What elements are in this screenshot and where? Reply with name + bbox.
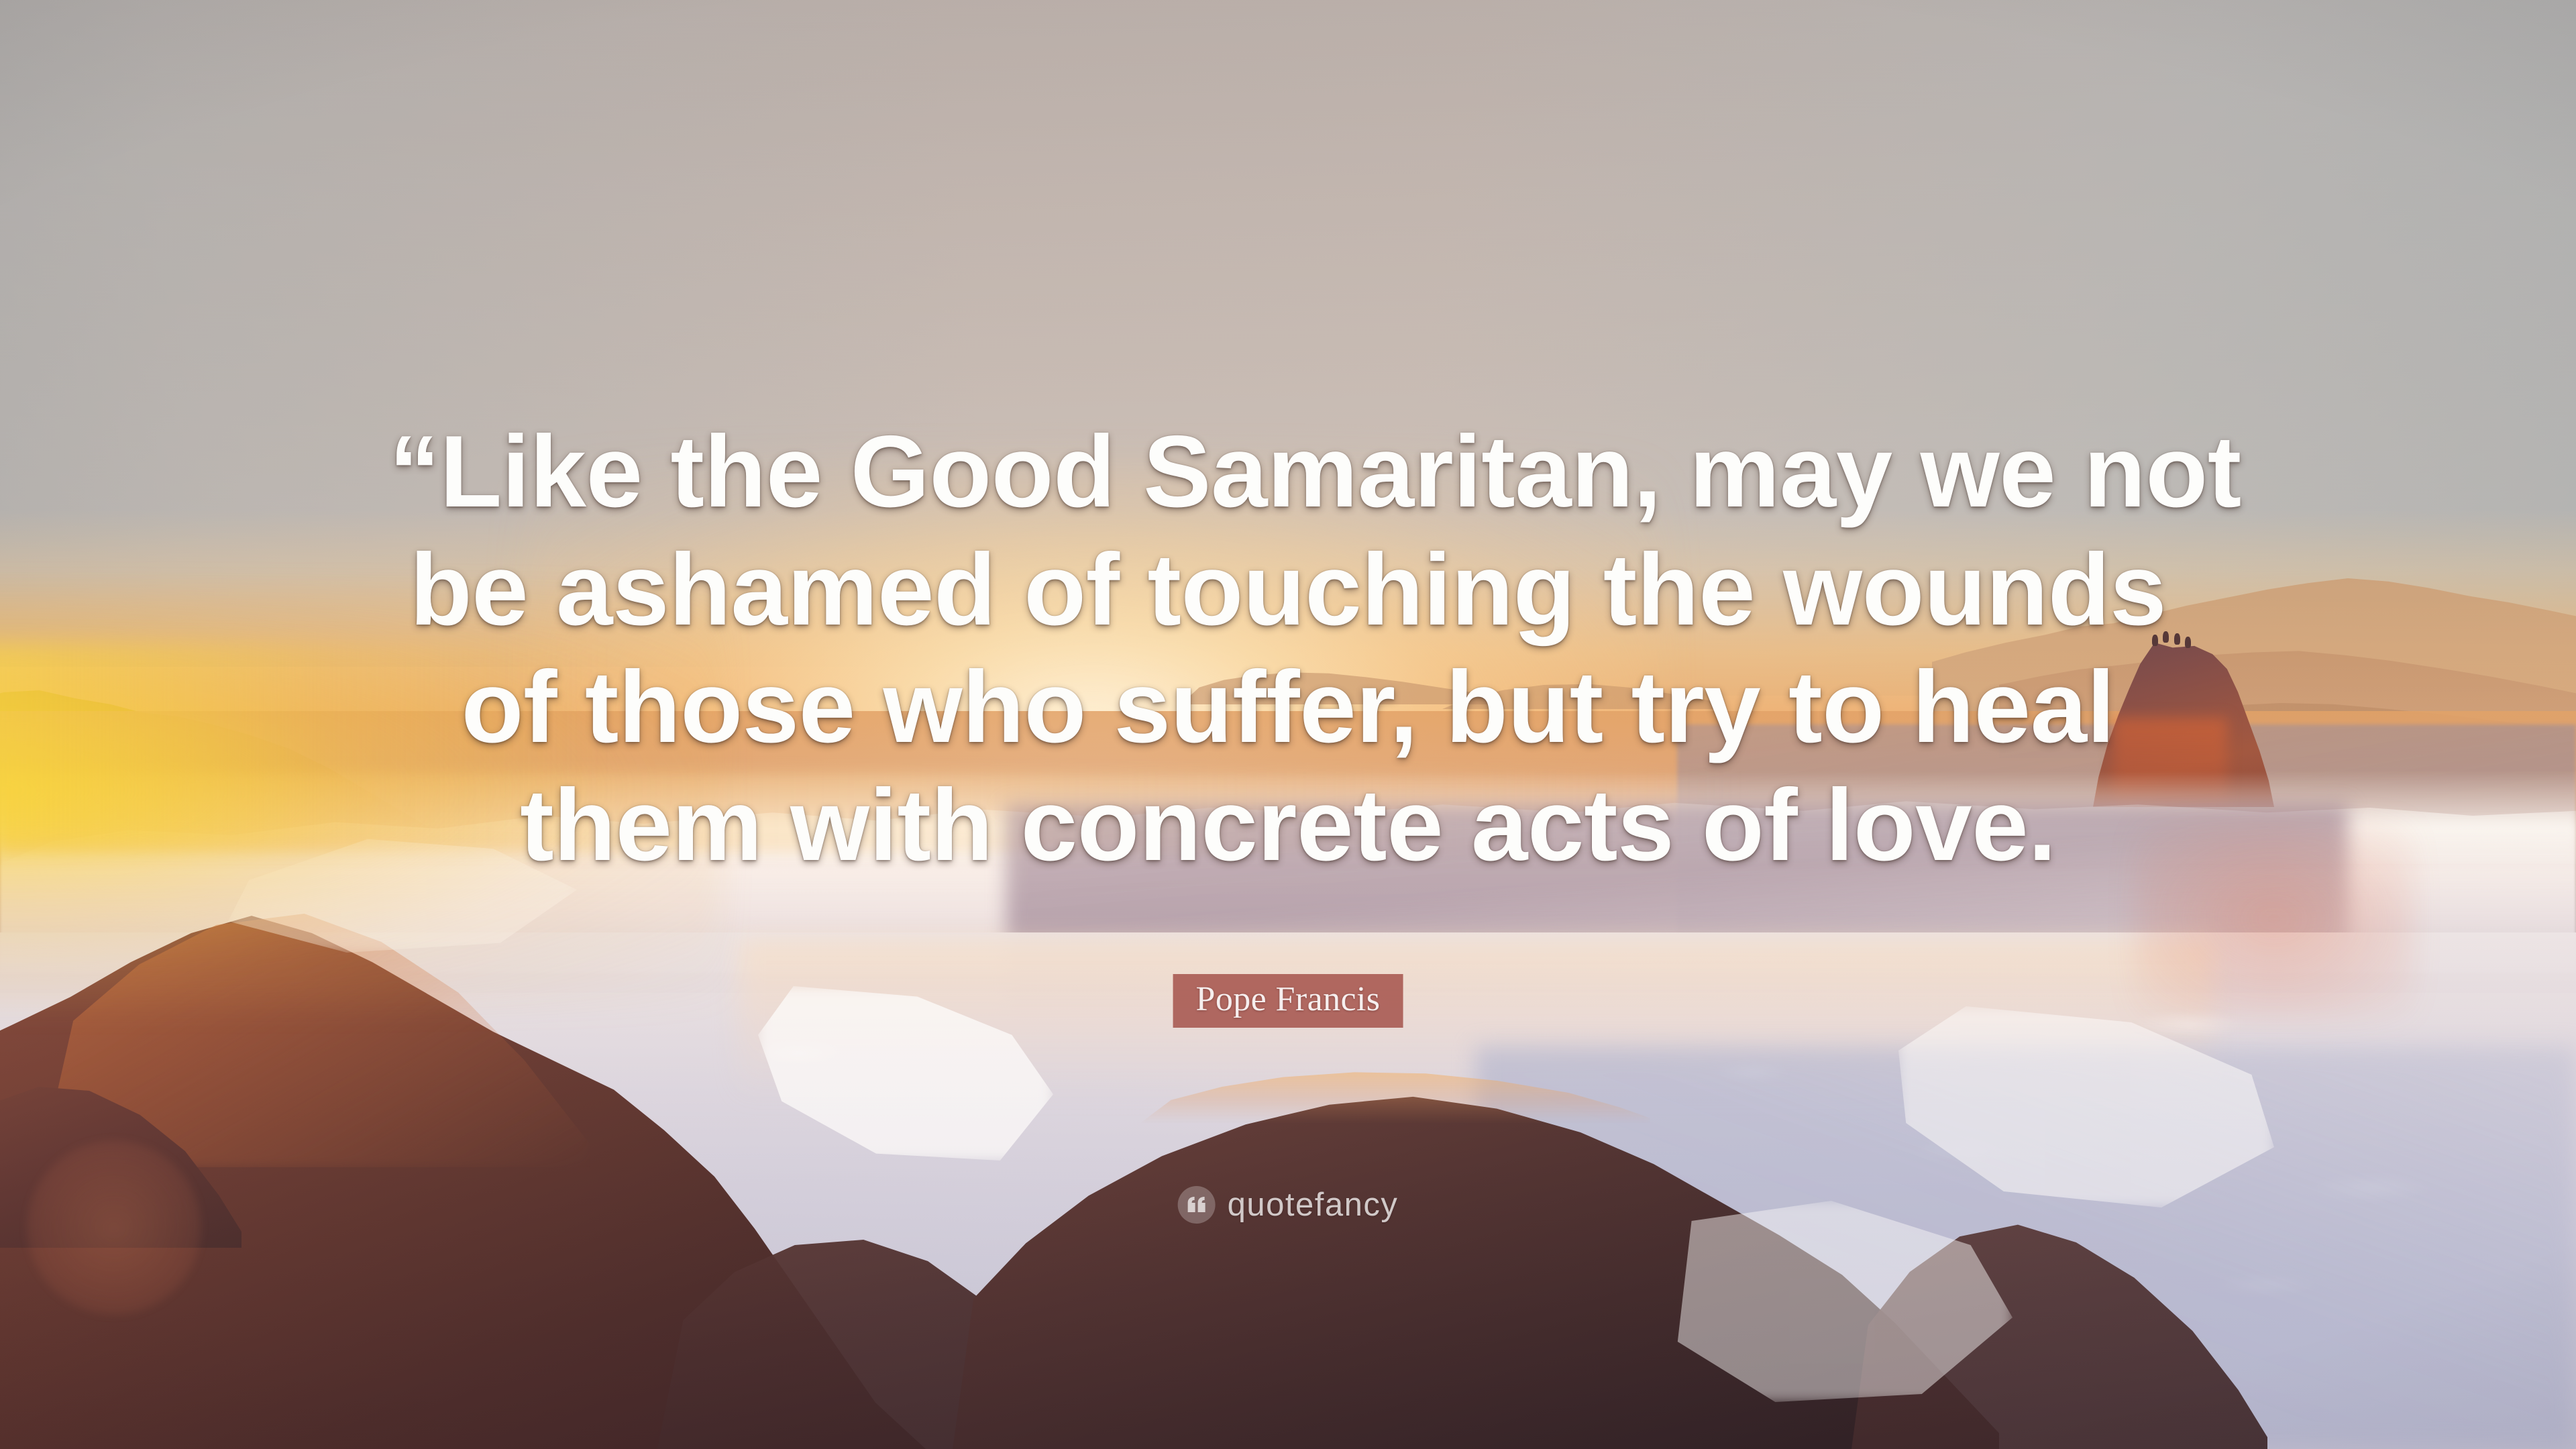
quotefancy-watermark[interactable]: quotefancy xyxy=(1178,1186,1399,1224)
quote-poster: “Like the Good Samaritan, may we not be … xyxy=(0,0,2576,1449)
author-attribution-badge: Pope Francis xyxy=(1173,974,1403,1028)
overlay-content: “Like the Good Samaritan, may we not be … xyxy=(0,0,2576,1449)
quotefancy-wordmark: quotefancy xyxy=(1228,1189,1399,1222)
quote-mark-icon xyxy=(1178,1186,1216,1224)
quote-line-2: be ashamed of touching the wounds xyxy=(389,531,2187,649)
quote-line-1: “Like the Good Samaritan, may we not xyxy=(389,413,2187,531)
quote-line-4: them with concrete acts of love. xyxy=(389,767,2187,885)
quote-line-3: of those who suffer, but try to heal xyxy=(389,649,2187,767)
quote-text-block: “Like the Good Samaritan, may we not be … xyxy=(389,413,2187,884)
